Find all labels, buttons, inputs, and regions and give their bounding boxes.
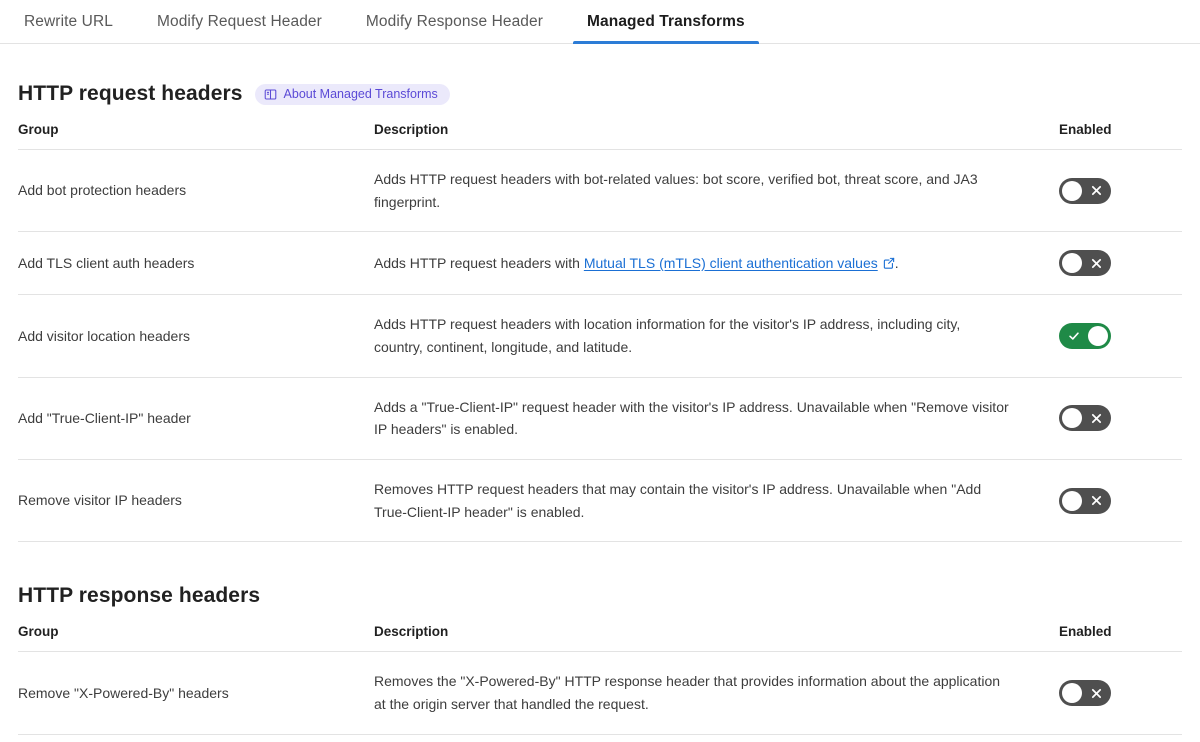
- cross-icon: [1091, 405, 1102, 431]
- column-header-enabled: Enabled: [1054, 122, 1182, 150]
- cross-icon: [1091, 680, 1102, 706]
- tab-rewrite-url[interactable]: Rewrite URL: [18, 0, 135, 43]
- toggle-add-visitor-location-headers[interactable]: [1059, 323, 1111, 349]
- row-description: Adds several security-related HTTP respo…: [374, 734, 1054, 742]
- tab-modify-request-header[interactable]: Modify Request Header: [135, 0, 344, 43]
- toggle-knob: [1088, 326, 1108, 346]
- table-row: Add security headers Adds several securi…: [18, 734, 1182, 742]
- table-row: Remove visitor IP headers Removes HTTP r…: [18, 460, 1182, 542]
- column-header-description: Description: [374, 624, 1054, 652]
- toggle-knob: [1062, 491, 1082, 511]
- row-description: Removes the "X-Powered-By" HTTP response…: [374, 652, 1054, 734]
- row-description: Adds HTTP request headers with location …: [374, 295, 1054, 377]
- badge-label: About Managed Transforms: [284, 88, 438, 101]
- column-header-group: Group: [18, 624, 374, 652]
- table-row: Add visitor location headers Adds HTTP r…: [18, 295, 1182, 377]
- row-group-name: Remove "X-Powered-By" headers: [18, 652, 374, 734]
- section-http-request-headers: HTTP request headers About Managed Trans…: [0, 82, 1200, 542]
- row-description: Adds HTTP request headers with Mutual TL…: [374, 232, 1054, 295]
- external-link-icon: [883, 253, 895, 276]
- response-headers-table: Group Description Enabled Remove "X-Powe…: [18, 624, 1182, 742]
- row-enabled-cell: [1054, 460, 1182, 542]
- description-suffix: .: [895, 255, 899, 271]
- row-enabled-cell: [1054, 295, 1182, 377]
- section-header: HTTP response headers: [18, 584, 1182, 608]
- row-group-name: Add visitor location headers: [18, 295, 374, 377]
- column-header-description: Description: [374, 122, 1054, 150]
- toggle-add-bot-protection-headers[interactable]: [1059, 178, 1111, 204]
- row-group-name: Add TLS client auth headers: [18, 232, 374, 295]
- table-row: Add "True-Client-IP" header Adds a "True…: [18, 377, 1182, 459]
- row-group-name: Add bot protection headers: [18, 150, 374, 232]
- column-header-enabled: Enabled: [1054, 624, 1182, 652]
- column-header-group: Group: [18, 122, 374, 150]
- toggle-knob: [1062, 683, 1082, 703]
- table-row: Add TLS client auth headers Adds HTTP re…: [18, 232, 1182, 295]
- tab-label: Modify Request Header: [157, 13, 322, 31]
- toggle-add-tls-client-auth-headers[interactable]: [1059, 250, 1111, 276]
- table-row: Remove "X-Powered-By" headers Removes th…: [18, 652, 1182, 734]
- section-title: HTTP request headers: [18, 82, 243, 106]
- check-icon: [1068, 323, 1080, 349]
- row-enabled-cell: [1054, 652, 1182, 734]
- tab-label: Rewrite URL: [24, 13, 113, 31]
- toggle-add-true-client-ip-header[interactable]: [1059, 405, 1111, 431]
- row-description: Adds a "True-Client-IP" request header w…: [374, 377, 1054, 459]
- row-description: Removes HTTP request headers that may co…: [374, 460, 1054, 542]
- toggle-knob: [1062, 253, 1082, 273]
- tab-bar: Rewrite URL Modify Request Header Modify…: [0, 0, 1200, 44]
- table-header-row: Group Description Enabled: [18, 624, 1182, 652]
- request-headers-table: Group Description Enabled Add bot protec…: [18, 122, 1182, 542]
- toggle-knob: [1062, 408, 1082, 428]
- tab-modify-response-header[interactable]: Modify Response Header: [344, 0, 565, 43]
- section-title: HTTP response headers: [18, 584, 260, 608]
- about-managed-transforms-badge[interactable]: About Managed Transforms: [255, 84, 450, 105]
- mtls-documentation-link[interactable]: Mutual TLS (mTLS) client authentication …: [584, 255, 878, 271]
- row-enabled-cell: [1054, 150, 1182, 232]
- toggle-knob: [1062, 181, 1082, 201]
- row-description: Adds HTTP request headers with bot-relat…: [374, 150, 1054, 232]
- toggle-remove-visitor-ip-headers[interactable]: [1059, 488, 1111, 514]
- row-group-name: Remove visitor IP headers: [18, 460, 374, 542]
- description-prefix: Adds HTTP request headers with: [374, 255, 584, 271]
- row-enabled-cell: [1054, 734, 1182, 742]
- row-enabled-cell: [1054, 377, 1182, 459]
- cross-icon: [1091, 488, 1102, 514]
- row-group-name: Add security headers: [18, 734, 374, 742]
- tab-managed-transforms[interactable]: Managed Transforms: [565, 0, 767, 43]
- section-header: HTTP request headers About Managed Trans…: [18, 82, 1182, 106]
- link-label: Mutual TLS (mTLS) client authentication …: [584, 255, 878, 271]
- toggle-remove-x-powered-by-headers[interactable]: [1059, 680, 1111, 706]
- tab-label: Managed Transforms: [587, 13, 745, 31]
- table-row: Add bot protection headers Adds HTTP req…: [18, 150, 1182, 232]
- row-enabled-cell: [1054, 232, 1182, 295]
- cross-icon: [1091, 250, 1102, 276]
- row-group-name: Add "True-Client-IP" header: [18, 377, 374, 459]
- cross-icon: [1091, 178, 1102, 204]
- book-icon: [264, 88, 277, 101]
- section-http-response-headers: HTTP response headers Group Description …: [0, 584, 1200, 742]
- tab-label: Modify Response Header: [366, 13, 543, 31]
- table-header-row: Group Description Enabled: [18, 122, 1182, 150]
